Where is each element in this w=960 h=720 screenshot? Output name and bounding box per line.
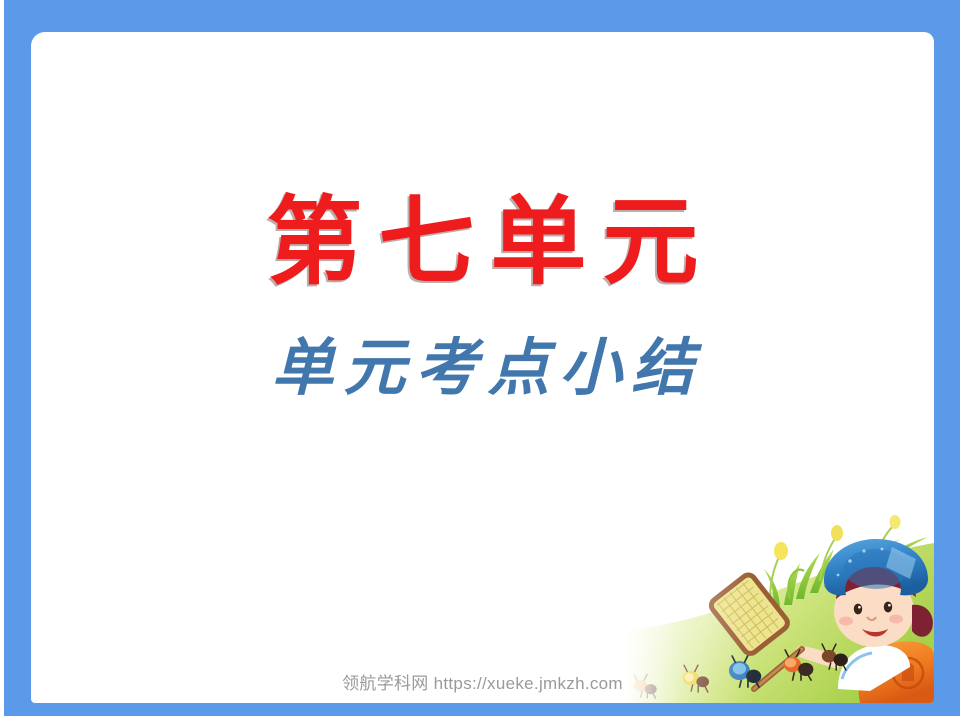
slide-content-area: 第七单元 单元考点小结 领航学科网 https://xueke.jmkzh.co… — [31, 32, 934, 703]
watermark-text: 领航学科网 https://xueke.jmkzh.com — [31, 669, 934, 694]
child-eye-left — [854, 604, 862, 615]
page-subtitle: 单元考点小结 — [31, 332, 934, 403]
page-title: 第七单元 — [31, 192, 934, 293]
presentation-slide: 第七单元 单元考点小结 领航学科网 https://xueke.jmkzh.co… — [0, 0, 960, 720]
slide-border-frame: 第七单元 单元考点小结 领航学科网 https://xueke.jmkzh.co… — [4, 0, 960, 716]
child-eye-right — [884, 602, 892, 613]
